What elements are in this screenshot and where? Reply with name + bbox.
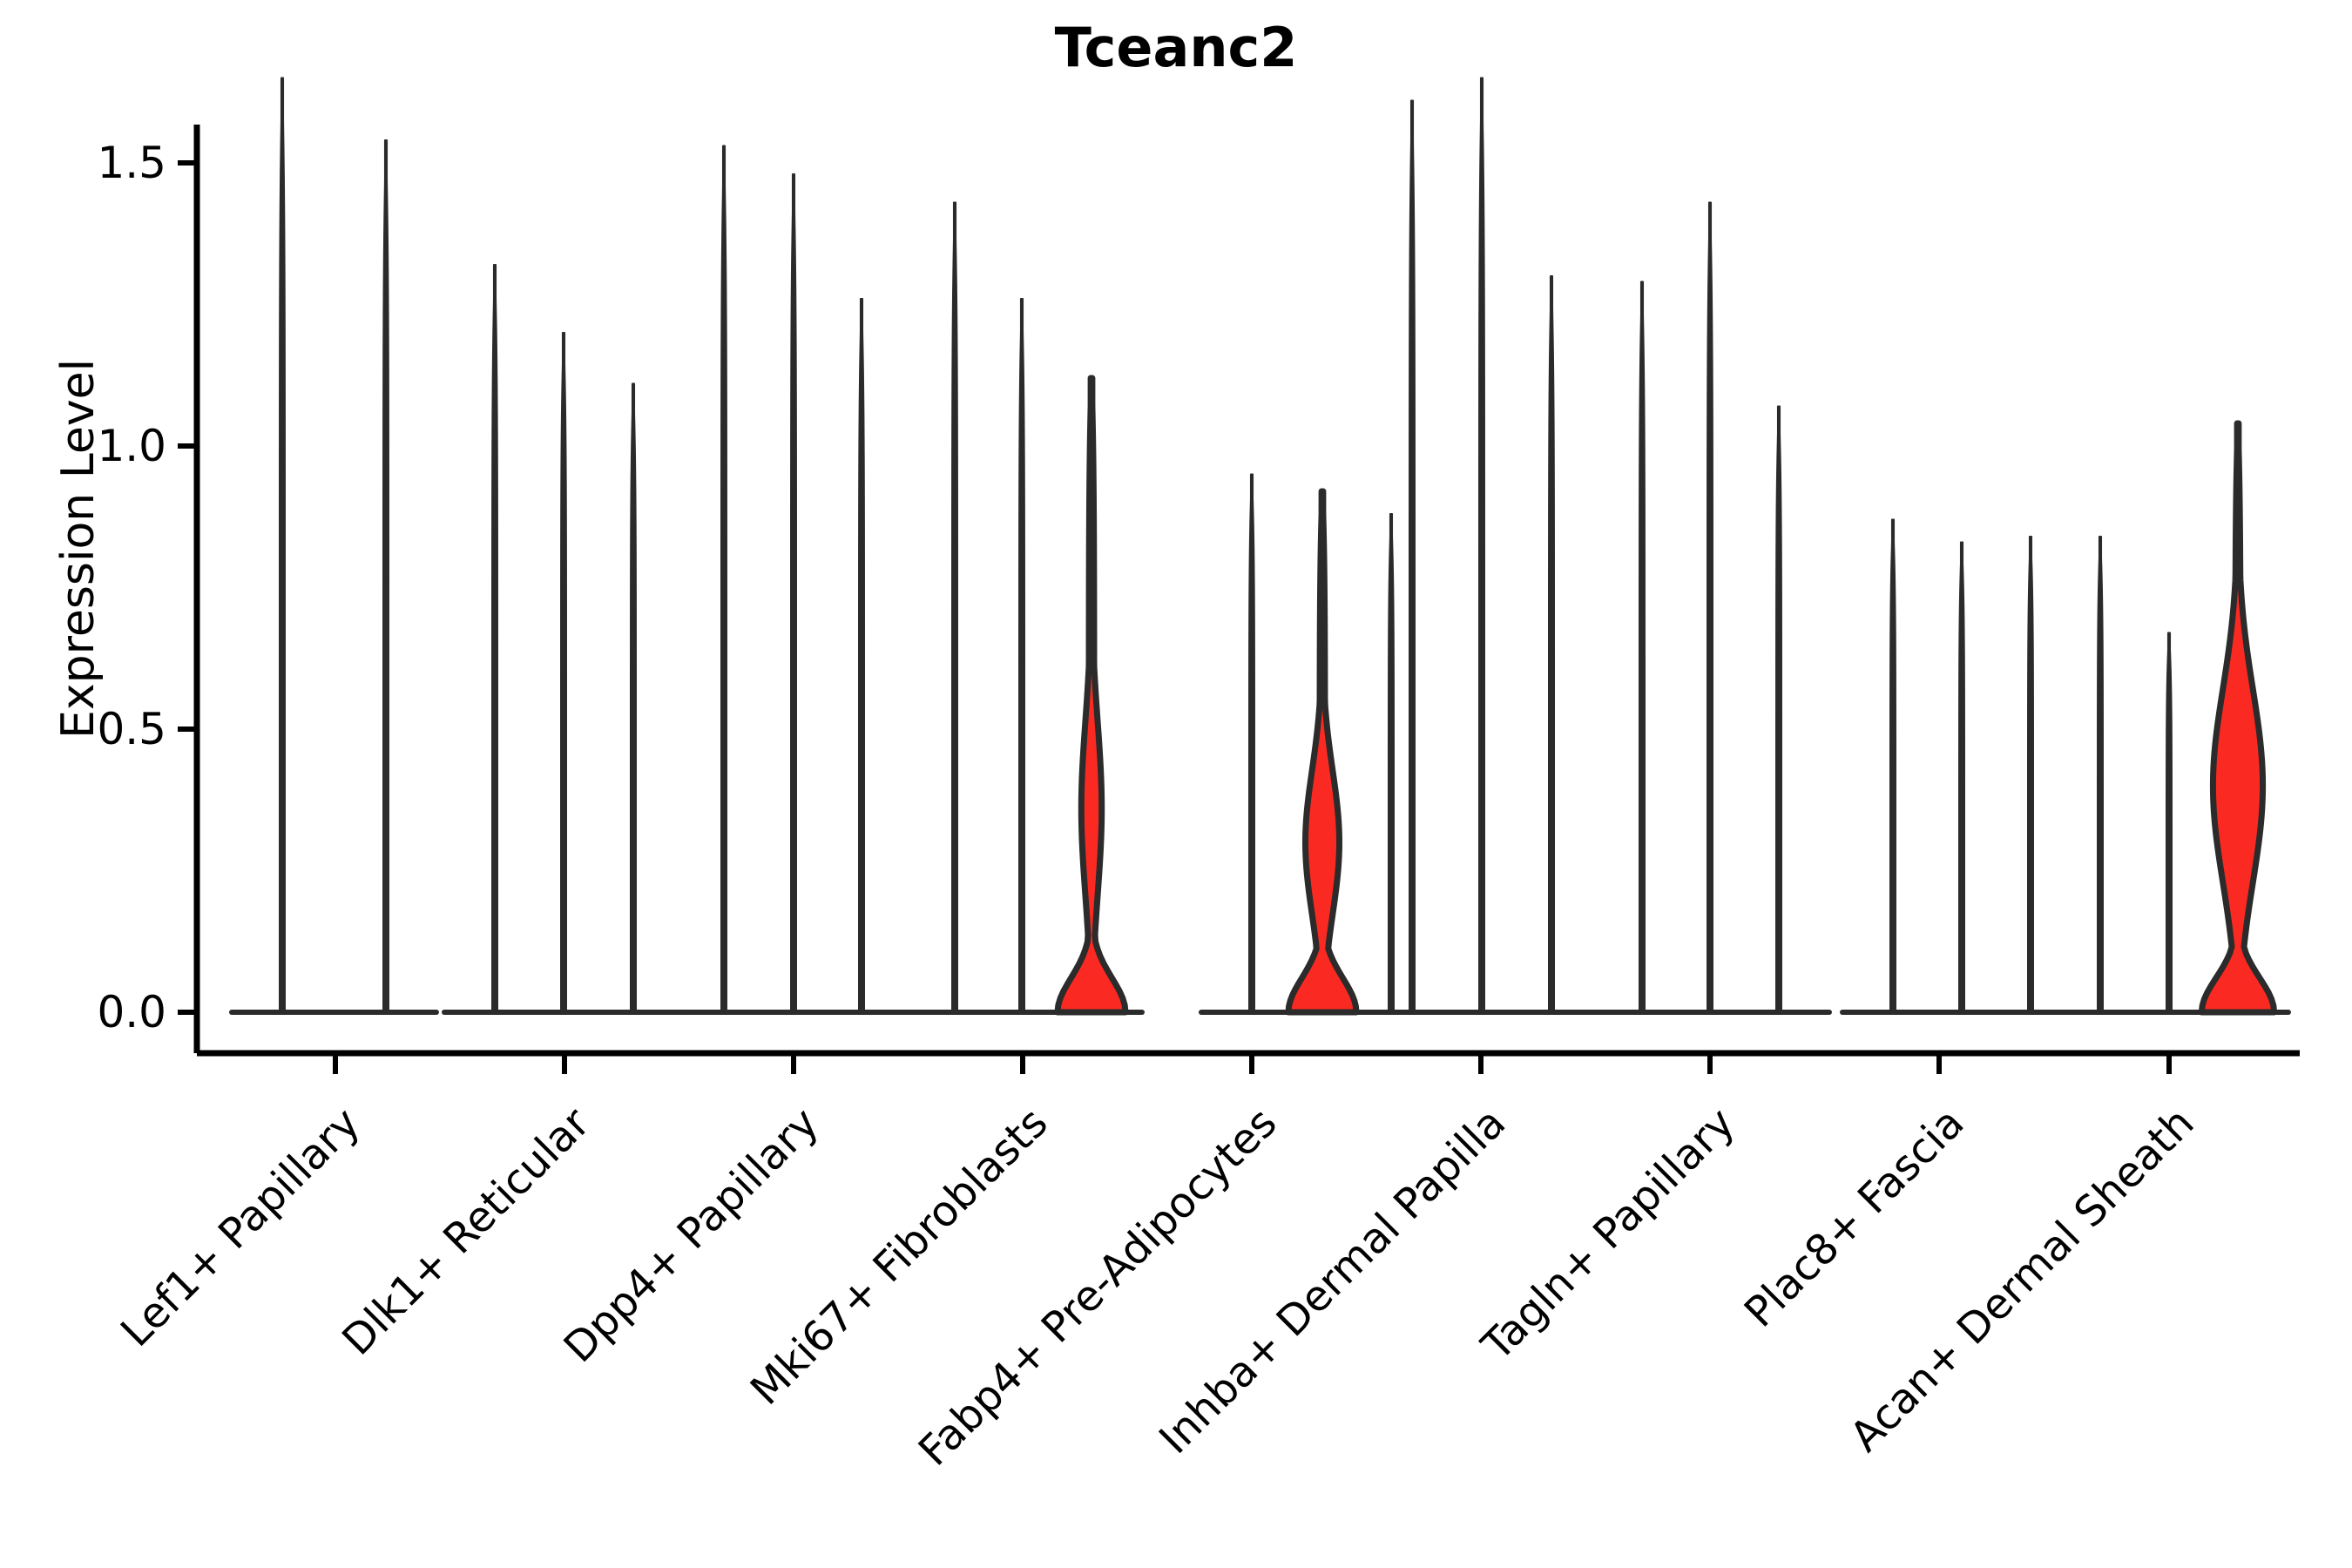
violin-shape [2166,633,2172,1013]
violin-plot-figure: Tceanc2 Expression Level 0.00.51.01.5 Le… [0,0,2352,1568]
violin-shape [2201,423,2274,1012]
violin-shape [492,265,497,1012]
violin-shape [1389,514,1394,1012]
violin-shape [1707,203,1713,1013]
violin-shape [383,140,389,1012]
violin-shape [859,299,864,1012]
violin-shape [2098,537,2103,1012]
violin-shape [1409,101,1415,1013]
violin-shape [1479,78,1484,1013]
violin-shape [1249,475,1254,1013]
violin-shape [1639,282,1645,1013]
plot-area [0,0,2352,1568]
violin-shape [561,333,566,1012]
violin-shape [952,203,957,1013]
violin-shape [1776,407,1781,1013]
violin-shape [1959,543,1964,1013]
violin-shape [1288,491,1356,1012]
violin-shape [631,384,636,1013]
violin-shape [721,146,727,1013]
violin-shape [1890,520,1896,1013]
violin-shape [791,174,796,1012]
violin-shape [1549,276,1554,1012]
violin-shape [280,78,285,1013]
violin-shape [2028,537,2033,1012]
axis-tick-marks [178,163,2169,1074]
violin-shape [1019,299,1024,1012]
violin-shape [1058,378,1125,1012]
violin-series [232,78,2288,1013]
